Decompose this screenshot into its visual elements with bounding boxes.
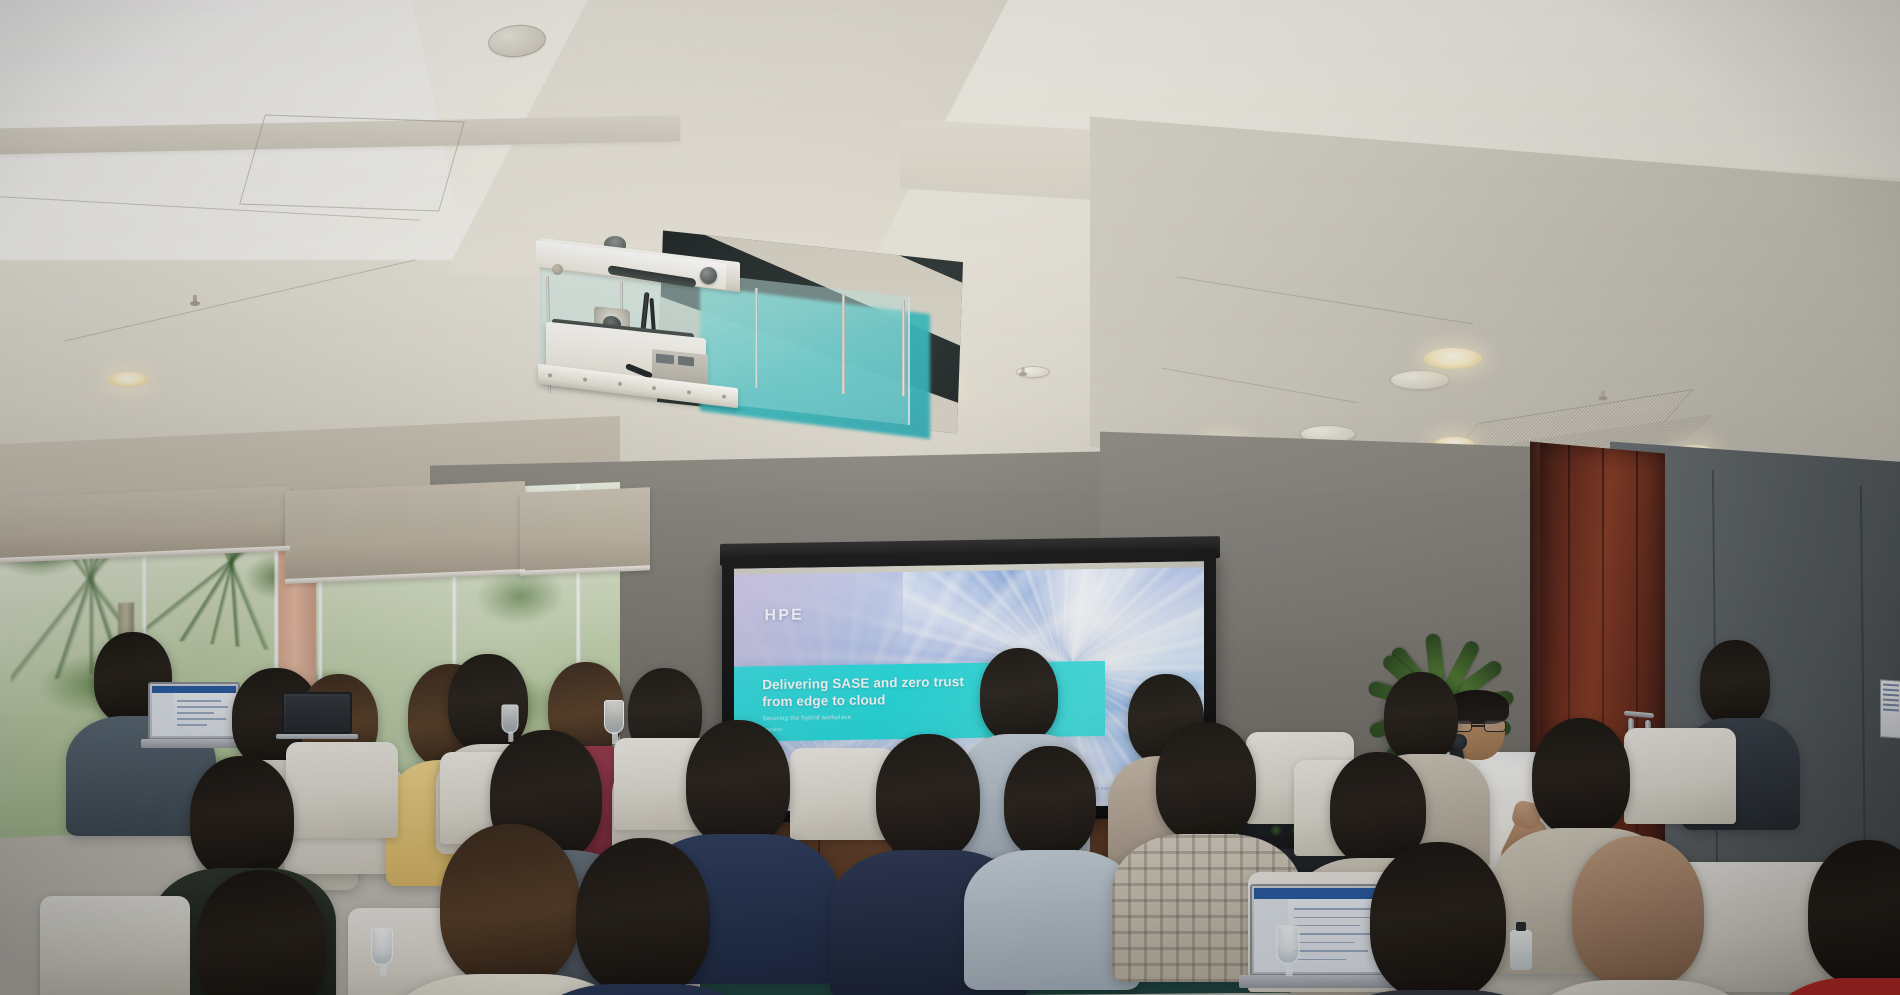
water-glass bbox=[371, 928, 393, 965]
attendee-head bbox=[876, 734, 980, 860]
water-glass bbox=[604, 700, 624, 734]
attendee-head bbox=[686, 720, 790, 846]
sprinkler-head-icon bbox=[190, 295, 200, 308]
sprinkler-head-icon bbox=[1019, 367, 1027, 377]
projector-lift-rod bbox=[842, 294, 845, 394]
projector-lift-rod bbox=[902, 300, 905, 396]
laptop-base bbox=[1239, 975, 1401, 988]
attendee-laptop[interactable] bbox=[148, 682, 240, 740]
wall-sign bbox=[1880, 679, 1900, 739]
chair bbox=[286, 742, 398, 838]
attendee-head bbox=[440, 824, 580, 986]
water-glass bbox=[1277, 925, 1300, 964]
attendee-head bbox=[1156, 722, 1256, 842]
ceiling-access-hatch bbox=[239, 115, 465, 212]
projector-lift-rod bbox=[755, 288, 758, 388]
chair bbox=[40, 896, 190, 995]
laptop-screen bbox=[148, 682, 240, 740]
attendee-head bbox=[1004, 746, 1096, 858]
sprinkler-head-icon bbox=[1599, 391, 1608, 403]
recessed-downlight-icon bbox=[1424, 348, 1482, 369]
hpe-logo: HPE bbox=[765, 606, 805, 625]
attendee-laptop[interactable] bbox=[1250, 884, 1390, 976]
laptop-screen bbox=[1250, 884, 1390, 976]
roller-blind[interactable] bbox=[520, 487, 650, 574]
attendee-head bbox=[1384, 672, 1458, 762]
attendee-head bbox=[190, 756, 294, 880]
ceiling-speaker-icon bbox=[1390, 370, 1450, 390]
roller-blind[interactable] bbox=[285, 481, 525, 583]
laptop-screen bbox=[282, 692, 352, 734]
conference-room-photo: HPE Delivering SASE and zero trust from … bbox=[0, 0, 1900, 995]
presenter-glasses-icon bbox=[1450, 720, 1506, 732]
attendee-head bbox=[980, 648, 1058, 742]
attendee-laptop[interactable] bbox=[282, 692, 352, 734]
attendee-head bbox=[1700, 640, 1770, 726]
projector-lift-knob bbox=[700, 267, 717, 284]
projector-lift-knob bbox=[552, 264, 563, 275]
attendee-head bbox=[1572, 836, 1704, 988]
recessed-downlight-icon bbox=[108, 372, 148, 387]
laptop-base bbox=[141, 739, 248, 747]
laptop-base bbox=[276, 734, 357, 740]
chair bbox=[1624, 728, 1736, 824]
attendee-head bbox=[1532, 718, 1630, 836]
water-bottle bbox=[1510, 930, 1532, 970]
attendee-head bbox=[576, 838, 710, 995]
water-glass bbox=[502, 705, 519, 734]
attendee-head bbox=[1370, 842, 1506, 995]
attendee-head bbox=[448, 654, 528, 752]
attendee-head bbox=[196, 870, 326, 995]
